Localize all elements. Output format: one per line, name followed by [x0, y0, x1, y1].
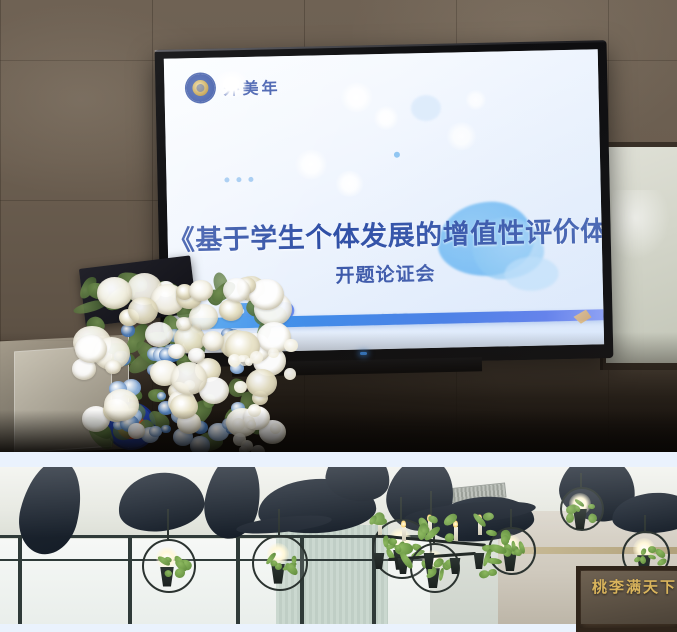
bottom-vignette	[0, 410, 677, 452]
chandelier-flame	[401, 520, 406, 528]
window-mullion	[236, 535, 240, 624]
chandelier-rod	[430, 491, 432, 517]
screen-glare-5	[373, 106, 400, 131]
pendant-rod	[580, 473, 582, 487]
pendant-rod	[167, 509, 169, 539]
screen-glare-1	[339, 82, 374, 113]
pendant-rod	[510, 509, 512, 527]
screen-glare-3	[294, 149, 329, 180]
chandelier-candle	[454, 527, 458, 541]
screen-glare-2	[445, 122, 478, 151]
pendant-rod	[644, 515, 646, 531]
school-emblem-icon	[186, 74, 215, 103]
calligraphy-plaque-text: 桃李满天下	[583, 576, 677, 597]
decor-dot	[394, 152, 400, 158]
screen-glare-4	[334, 170, 365, 197]
screen-glare-6	[465, 90, 487, 110]
window-rail	[0, 559, 430, 561]
decor-blob-top	[411, 95, 442, 122]
window-mullion	[128, 535, 132, 624]
header-glare	[216, 71, 247, 98]
window-mullion	[18, 535, 22, 624]
photo-divider	[0, 452, 677, 467]
photo-collage: 外美年 《基于学生个体发展的增值性评价体系建构》 开题论证会 2024年7月6日	[0, 0, 677, 624]
chandelier-candle	[402, 527, 406, 541]
top-photo: 外美年 《基于学生个体发展的增值性评价体系建构》 开题论证会 2024年7月6日	[0, 0, 677, 452]
pendant-rod	[400, 497, 402, 519]
three-dots-icon	[224, 177, 253, 183]
whiteboard-glare	[612, 190, 670, 260]
pendant-rod	[278, 509, 280, 535]
